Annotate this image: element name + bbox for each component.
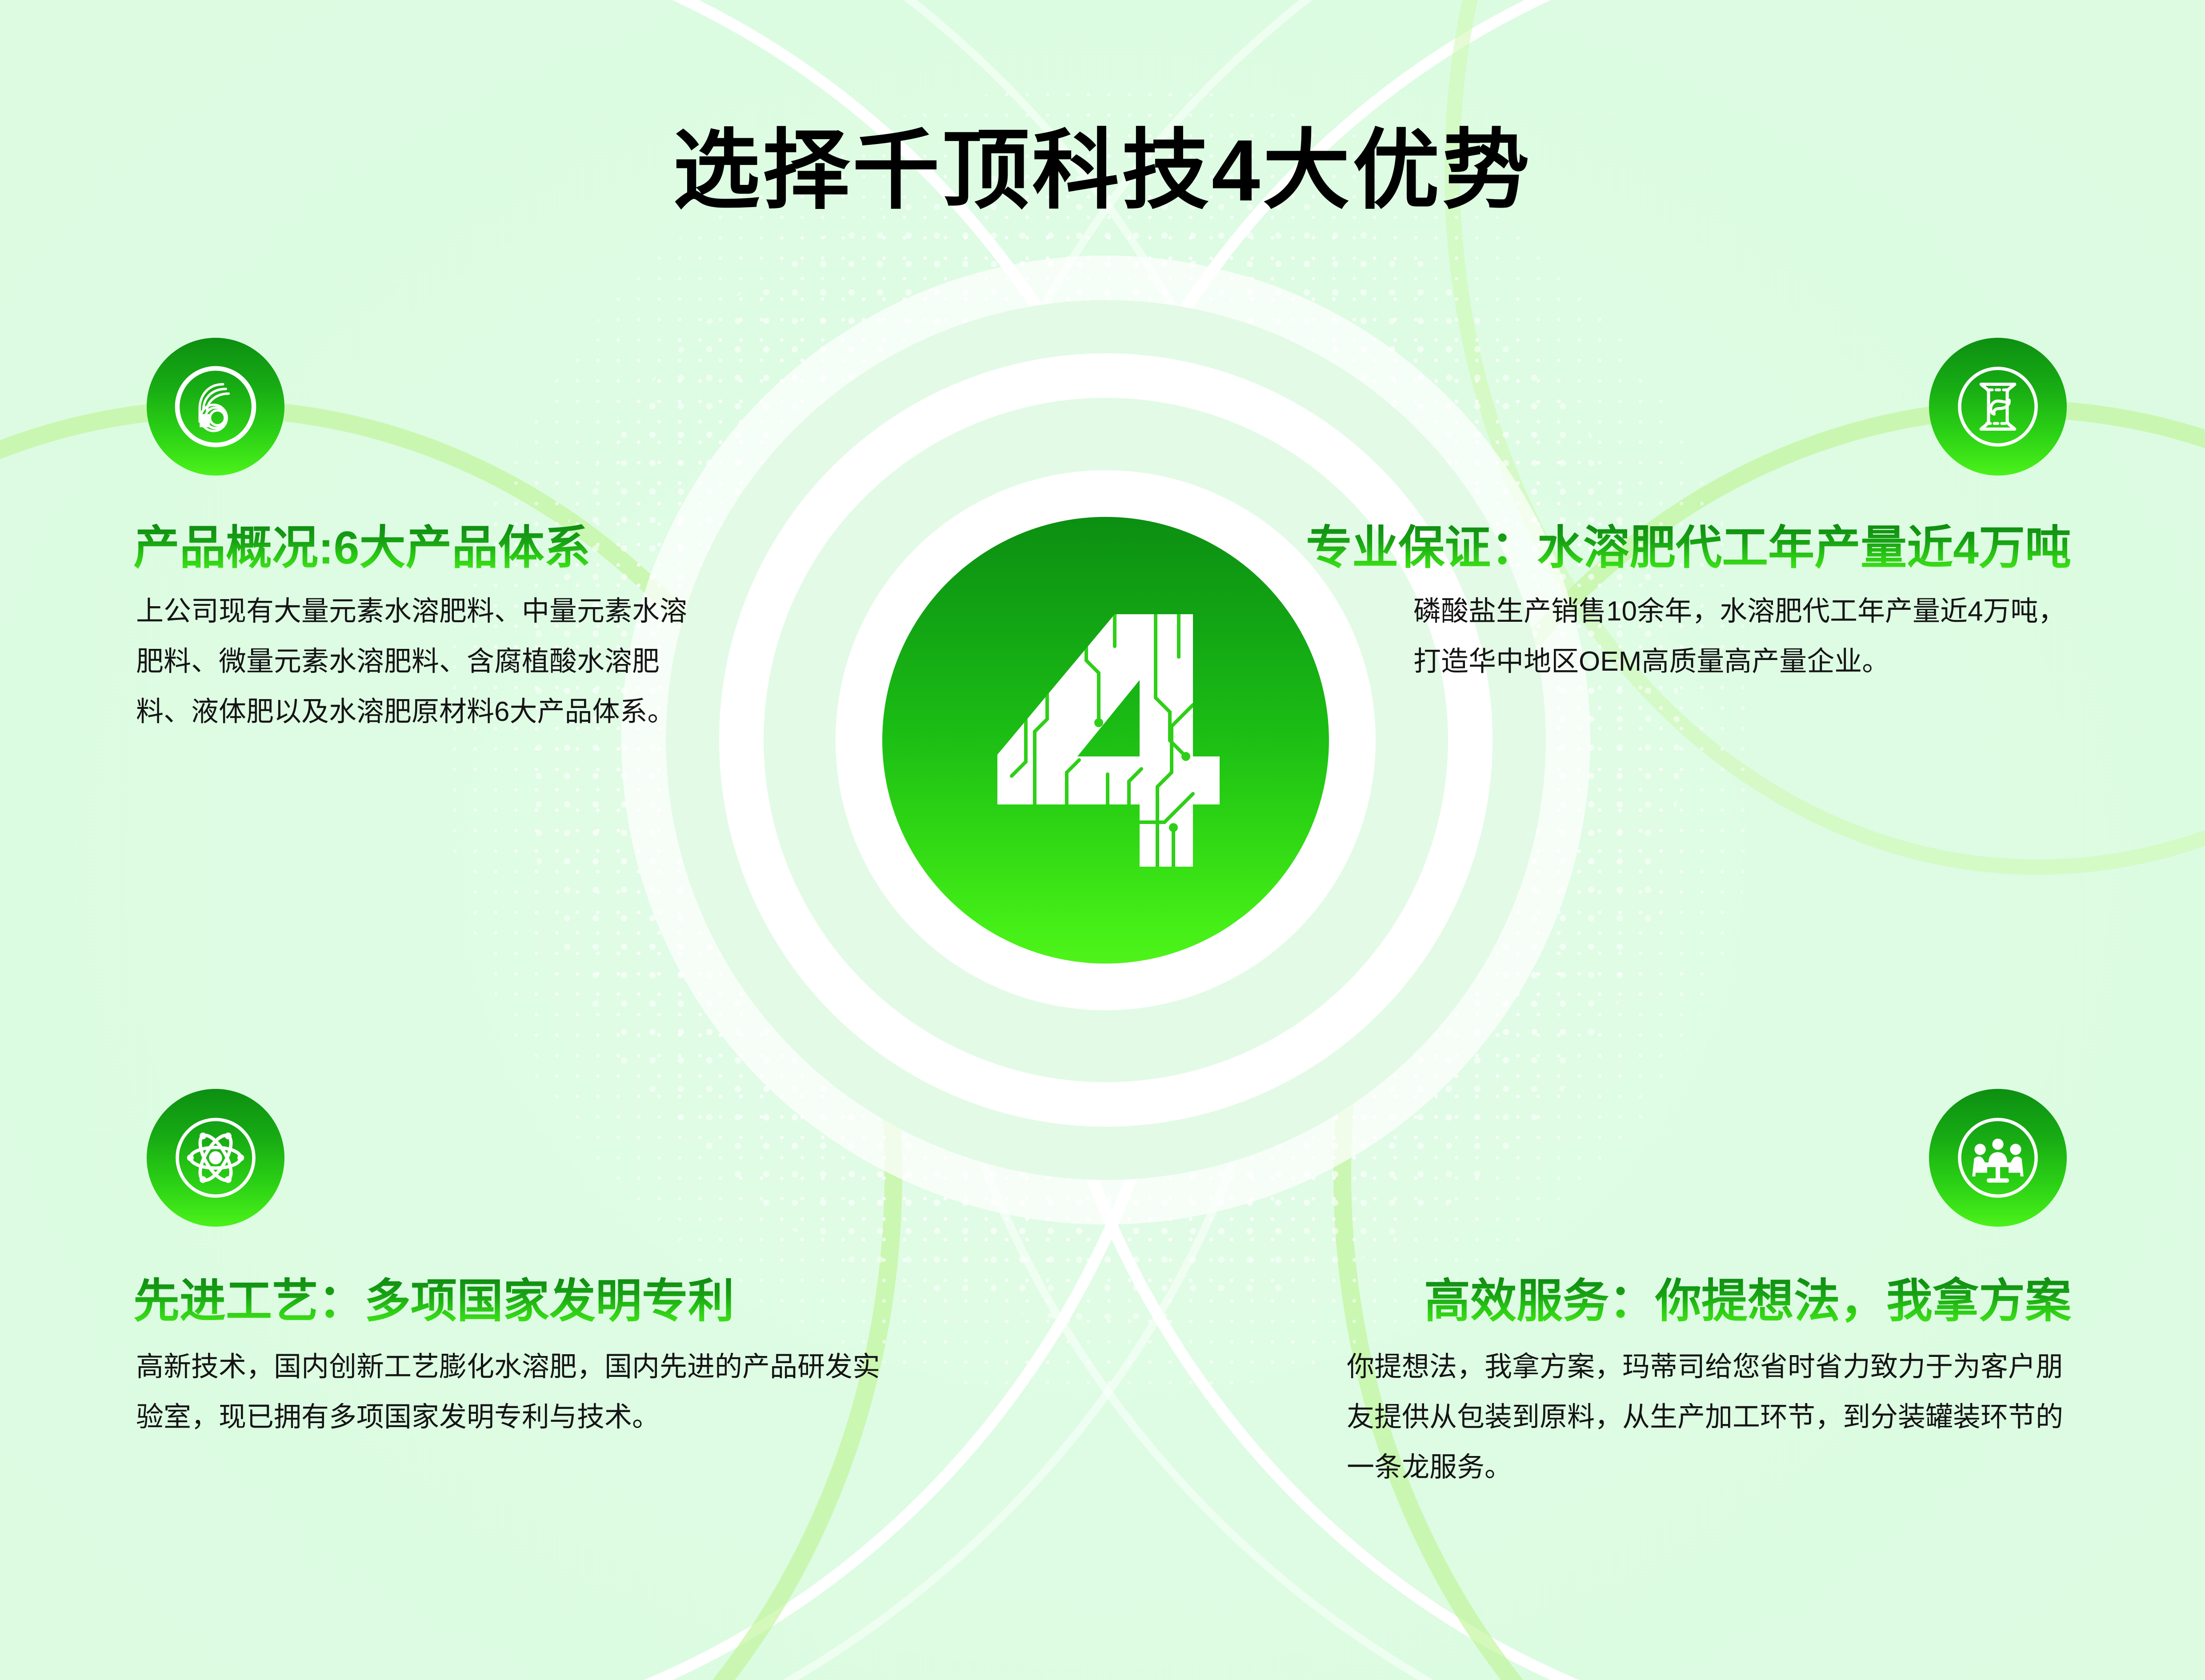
feature-badge-professional-guarantee[interactable] bbox=[1929, 338, 2067, 476]
feature-badge-product-overview[interactable] bbox=[147, 338, 284, 476]
circuit-four-icon bbox=[981, 598, 1230, 883]
page-title: 选择千顶科技4大优势 bbox=[0, 127, 2205, 214]
number-six-spiral-icon bbox=[169, 360, 262, 453]
fertilizer-bag-icon bbox=[1951, 360, 2045, 453]
feature-heading: 先进工艺：多项国家发明专利 bbox=[133, 1276, 734, 1327]
feature-heading: 产品概况:6大产品体系 bbox=[133, 522, 590, 574]
poster-stage: 选择千顶科技4大优势 产品概况:6大产品体系 上公司现有大量元素水溶肥料、中量元… bbox=[0, 0, 2205, 1680]
feature-heading: 专业保证：水溶肥代工年产量近4万吨 bbox=[1306, 522, 2071, 574]
feature-heading: 高效服务：你提想法，我拿方案 bbox=[1424, 1276, 2071, 1327]
feature-body: 上公司现有大量元素水溶肥料、中量元素水溶肥料、微量元素水溶肥料、含腐植酸水溶肥料… bbox=[136, 587, 705, 737]
feature-body: 高新技术，国内创新工艺膨化水溶肥，国内先进的产品研发实验室，现已拥有多项国家发明… bbox=[136, 1342, 883, 1443]
center-number-disc bbox=[882, 517, 1329, 964]
feature-body: 你提想法，我拿方案，玛蒂司给您省时省力致力于为客户朋友提供从包装到原料，从生产加… bbox=[1347, 1342, 2071, 1492]
feature-badge-advanced-process[interactable] bbox=[147, 1089, 284, 1227]
feature-body: 磷酸盐生产销售10余年，水溶肥代工年产量近4万吨，打造华中地区OEM高质量高产量… bbox=[1413, 587, 2071, 687]
atom-icon bbox=[169, 1111, 262, 1204]
meeting-people-icon bbox=[1951, 1111, 2045, 1204]
feature-badge-efficient-service[interactable] bbox=[1929, 1089, 2067, 1227]
